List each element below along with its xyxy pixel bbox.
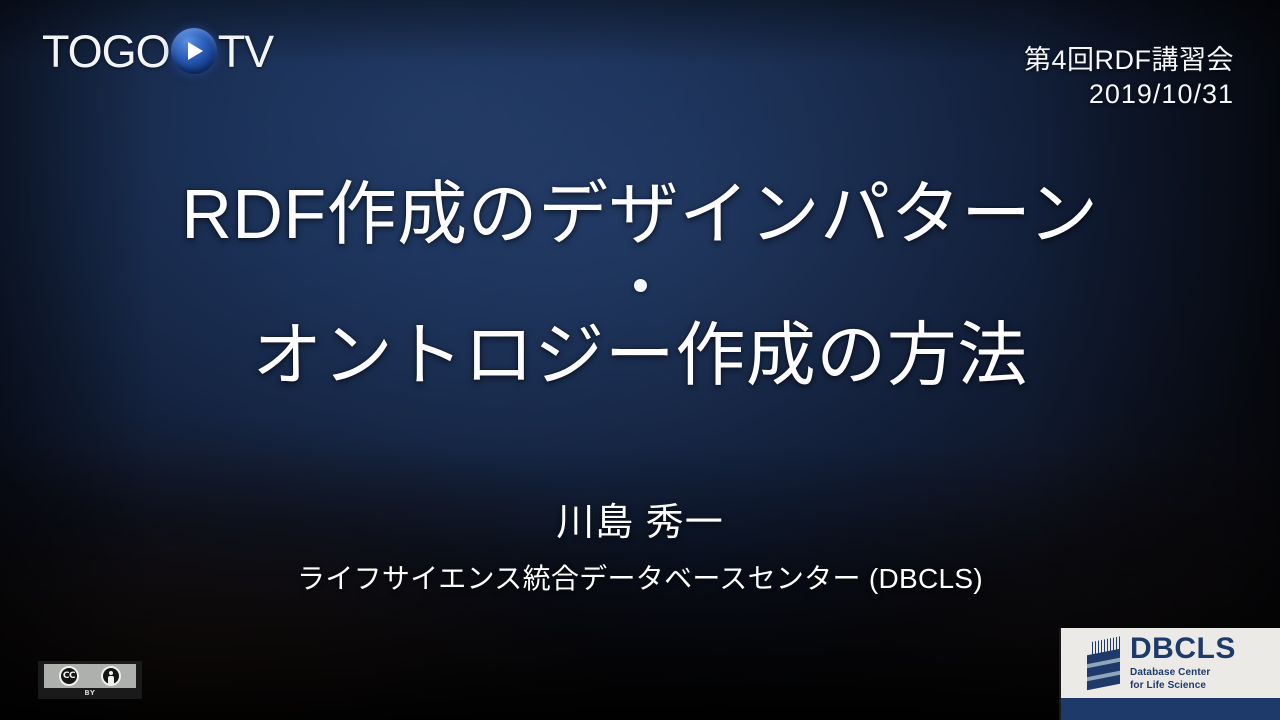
author-name: 川島 秀一 xyxy=(0,500,1280,548)
dbcls-tagline: Database Center for Life Science xyxy=(1130,667,1236,692)
bullet-dot-icon xyxy=(634,279,647,292)
togotv-logo: TOGO TV xyxy=(42,24,273,78)
author-block: 川島 秀一 ライフサイエンス統合データベースセンター (DBCLS) xyxy=(0,500,1280,596)
dbcls-text-group: DBCLS Database Center for Life Science xyxy=(1130,634,1236,692)
dbcls-logo-inner: DBCLS Database Center for Life Science xyxy=(1061,628,1280,698)
creative-commons-badge: CC BY xyxy=(38,661,142,699)
cc-by-person-icon xyxy=(101,666,121,686)
cc-by-label: BY xyxy=(84,689,95,697)
dbcls-tagline-line-2: for Life Science xyxy=(1130,680,1236,692)
title-block: RDF作成のデザインパターン オントロジー作成の方法 xyxy=(0,176,1280,394)
event-header: 第4回RDF講習会 2019/10/31 xyxy=(1024,44,1234,112)
cc-badge-bar: CC xyxy=(44,664,136,688)
dbcls-name: DBCLS xyxy=(1130,634,1236,664)
title-line-1: RDF作成のデザインパターン xyxy=(0,176,1280,253)
event-name: 第4回RDF講習会 xyxy=(1024,44,1234,77)
title-line-2: オントロジー作成の方法 xyxy=(0,317,1280,394)
slide-canvas: TOGO TV 第4回RDF講習会 2019/10/31 RDF作成のデザインパ… xyxy=(0,0,1280,720)
logo-text-togo: TOGO xyxy=(42,29,170,74)
author-affiliation: ライフサイエンス統合データベースセンター (DBCLS) xyxy=(0,561,1280,596)
logo-text-tv: TV xyxy=(218,29,274,74)
dbcls-logo-panel: DBCLS Database Center for Life Science xyxy=(1059,628,1280,720)
play-icon xyxy=(171,28,217,74)
dbcls-panel-footer-bar xyxy=(1061,698,1280,720)
event-date: 2019/10/31 xyxy=(1024,77,1234,112)
dbcls-tagline-line-1: Database Center xyxy=(1130,667,1236,679)
title-separator-bullet xyxy=(0,253,1280,317)
cc-logo-icon: CC xyxy=(59,666,79,686)
dbcls-wave-mark-icon xyxy=(1087,639,1122,687)
